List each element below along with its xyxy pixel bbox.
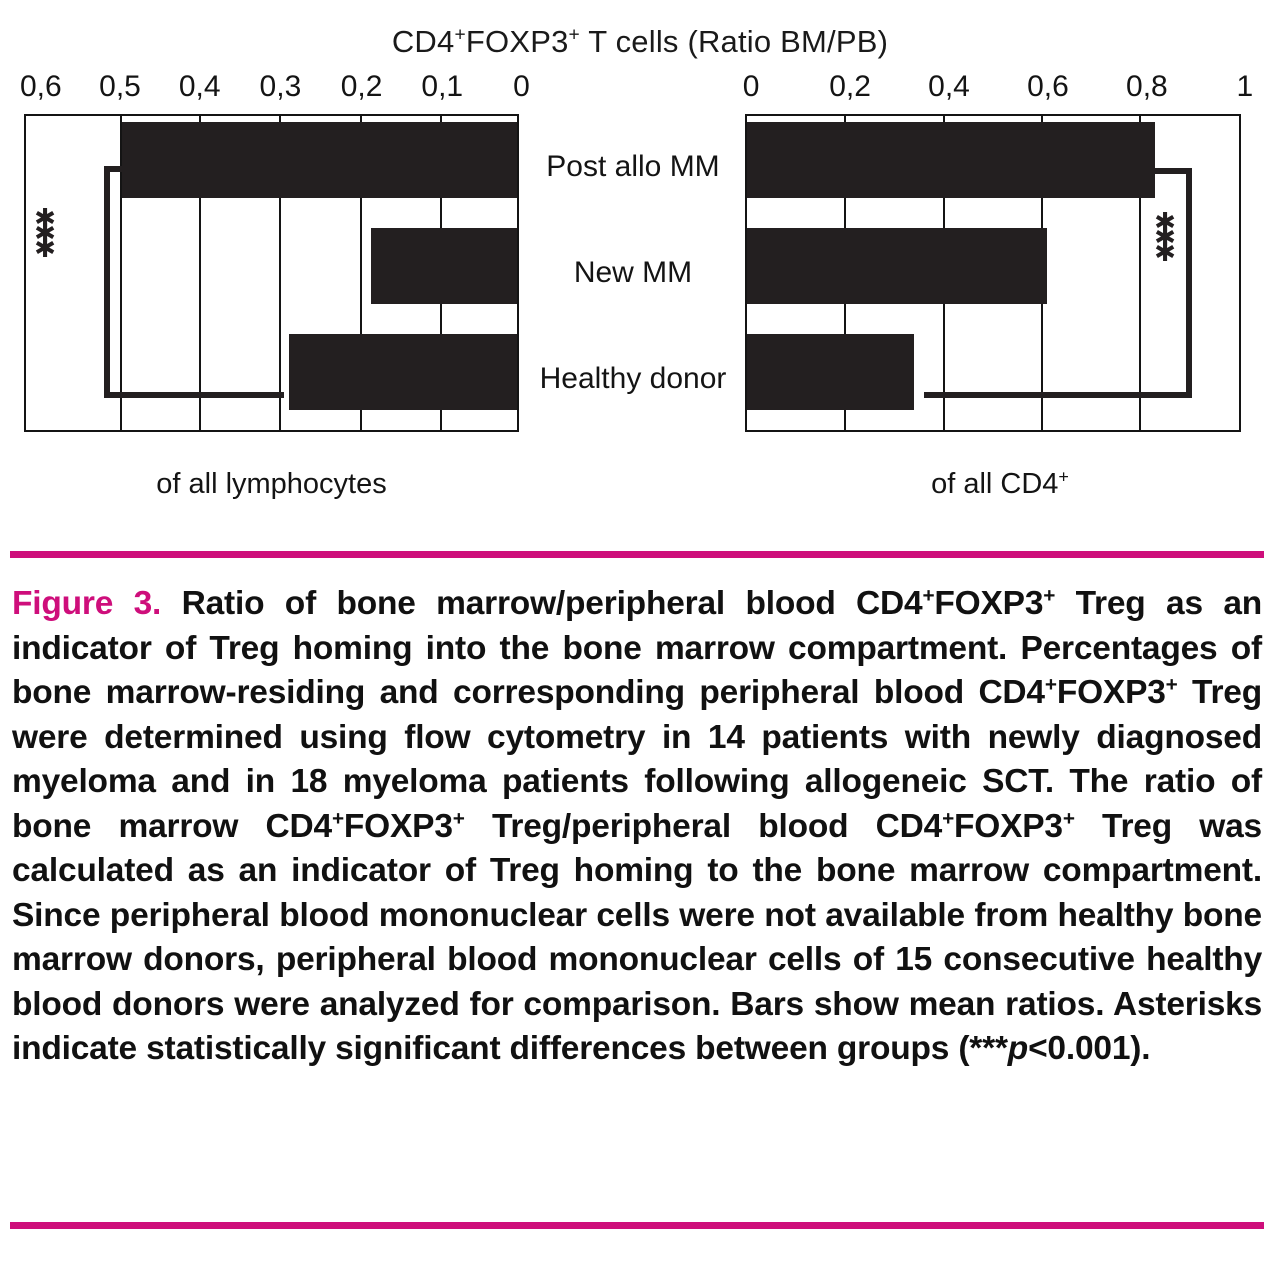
- category-label-new-mm: New MM: [519, 256, 747, 290]
- tick-label: 0,2: [829, 70, 871, 104]
- bracket-arm-bottom: [924, 392, 1192, 398]
- bar-post-allo-mm-left: [122, 122, 517, 198]
- right-axis-caption: of all CD4+: [745, 468, 1255, 501]
- significance-asterisks-left: ✱ ✱ ✱: [32, 212, 58, 257]
- tick-label: 0,4: [179, 70, 221, 104]
- category-label-post-allo-mm: Post allo MM: [519, 150, 747, 184]
- figure-number: Figure 3.: [12, 585, 161, 622]
- right-axis-caption-text: of all CD4+: [931, 468, 1069, 500]
- left-axis-ticklabels: 0,6 0,5 0,4 0,3 0,2 0,1 0: [24, 70, 519, 112]
- significance-bracket-left: [90, 166, 136, 398]
- category-labels: Post allo MM New MM Healthy donor: [519, 114, 747, 444]
- bar-post-allo-mm-right: [747, 122, 1155, 198]
- caption-body: Ratio of bone marrow/peripheral blood CD…: [12, 585, 1262, 1067]
- chart-area: CD4+FOXP3+ T cells (Ratio BM/PB) 0,6 0,5…: [0, 0, 1280, 530]
- tick-label: 0,2: [341, 70, 383, 104]
- bracket-stem: [1186, 168, 1192, 398]
- caption-rule-bottom: [10, 1222, 1264, 1229]
- bar-new-mm-left: [371, 228, 517, 304]
- chart-title: CD4+FOXP3+ T cells (Ratio BM/PB): [0, 24, 1280, 60]
- tick-label: 1: [1236, 70, 1253, 104]
- caption-rule-top: [10, 551, 1264, 558]
- tick-label: 0,8: [1126, 70, 1168, 104]
- tick-label: 0: [743, 70, 760, 104]
- significance-asterisks-right: ✱ ✱ ✱: [1152, 216, 1178, 261]
- tick-label: 0,6: [1027, 70, 1069, 104]
- chart-title-text: CD4+FOXP3+ T cells (Ratio BM/PB): [392, 24, 888, 59]
- tick-label: 0,3: [260, 70, 302, 104]
- bracket-arm-top: [104, 166, 136, 172]
- bracket-stem: [104, 166, 110, 398]
- figure-root: CD4+FOXP3+ T cells (Ratio BM/PB) 0,6 0,5…: [0, 0, 1280, 1266]
- tick-label: 0,5: [99, 70, 141, 104]
- figure-caption: Figure 3. Ratio of bone marrow/periphera…: [12, 582, 1262, 1072]
- significance-bracket-right: [1140, 168, 1200, 398]
- bracket-arm-bottom: [104, 392, 284, 398]
- right-axis-ticklabels: 0 0,2 0,4 0,6 0,8 1: [745, 70, 1255, 112]
- tick-label: 0,1: [421, 70, 463, 104]
- bar-healthy-donor-left: [289, 334, 517, 410]
- tick-label: 0: [513, 70, 530, 104]
- bracket-arm-top: [1154, 168, 1192, 174]
- left-axis-caption: of all lymphocytes: [24, 468, 519, 501]
- category-label-healthy-donor: Healthy donor: [519, 362, 747, 396]
- tick-label: 0,6: [20, 70, 62, 104]
- bar-healthy-donor-right: [747, 334, 914, 410]
- asterisk: ✱: [32, 242, 58, 257]
- tick-label: 0,4: [928, 70, 970, 104]
- asterisk: ✱: [1152, 246, 1178, 261]
- bar-new-mm-right: [747, 228, 1047, 304]
